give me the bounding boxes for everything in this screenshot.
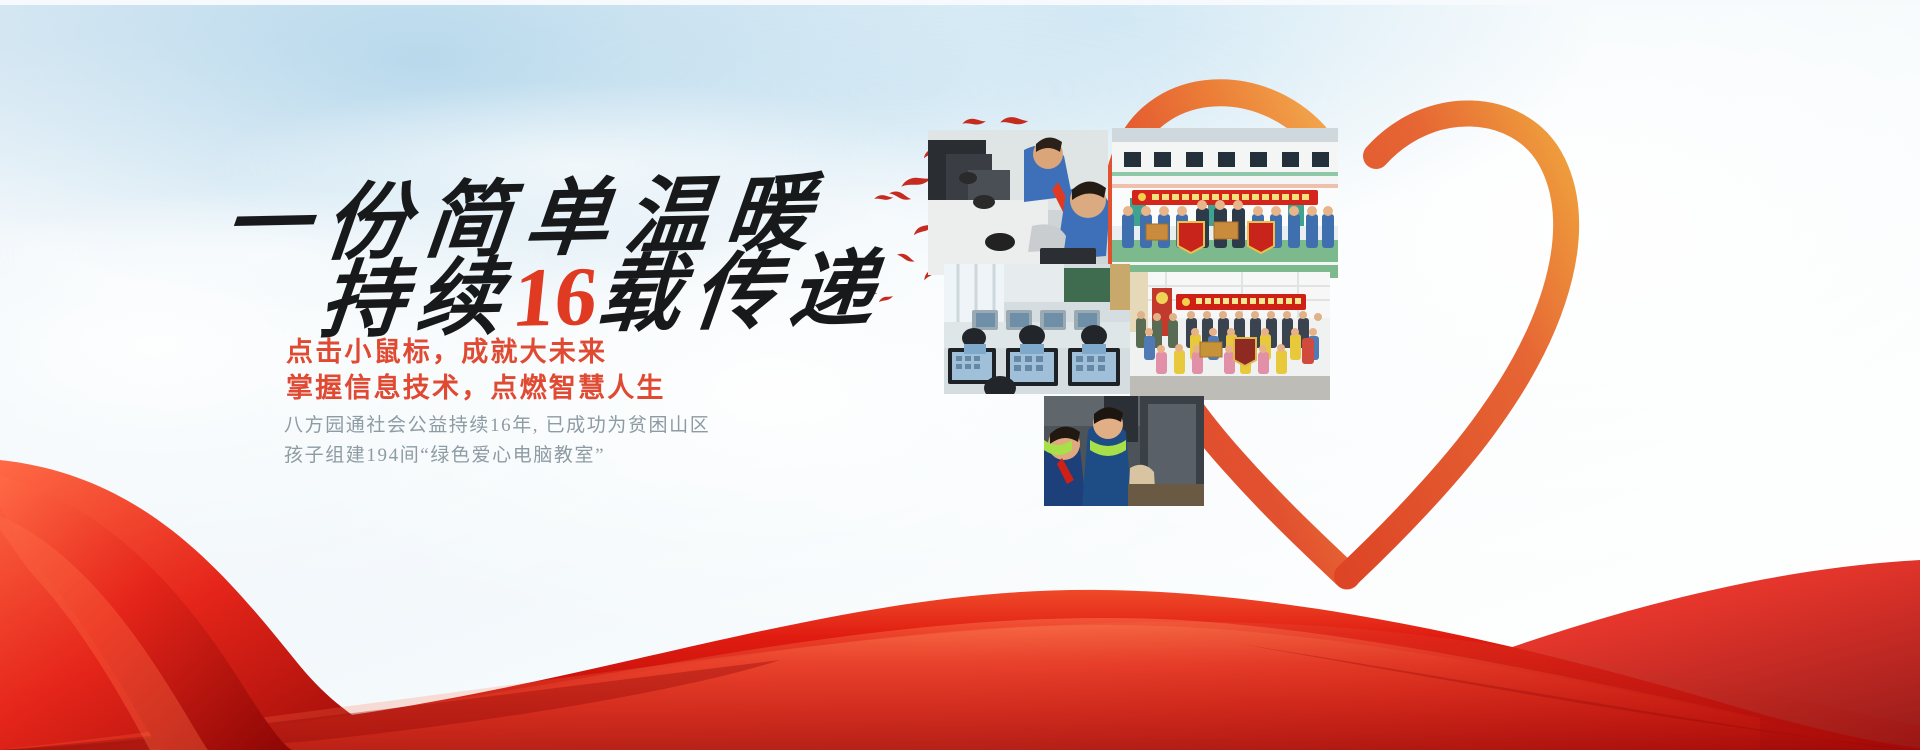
photo-classroom-row[interactable]: [944, 264, 1130, 394]
photo-computer-lab-kids[interactable]: [928, 130, 1108, 275]
headline-line-2-suffix: 载传递: [592, 244, 890, 343]
photo-group-ceremony[interactable]: [1130, 272, 1330, 400]
banner-root: 一份简单温暖 持续16载传递 点击小鼠标，成就大未来 掌握信息技术，点燃智慧人生…: [0, 0, 1920, 750]
subtitle-line-1: 点击小鼠标，成就大未来: [286, 330, 607, 369]
red-silk-ribbon: [0, 420, 1920, 750]
photo-school-donation[interactable]: [1112, 128, 1338, 278]
subtitle-line-2: 掌握信息技术，点燃智慧人生: [286, 366, 666, 405]
